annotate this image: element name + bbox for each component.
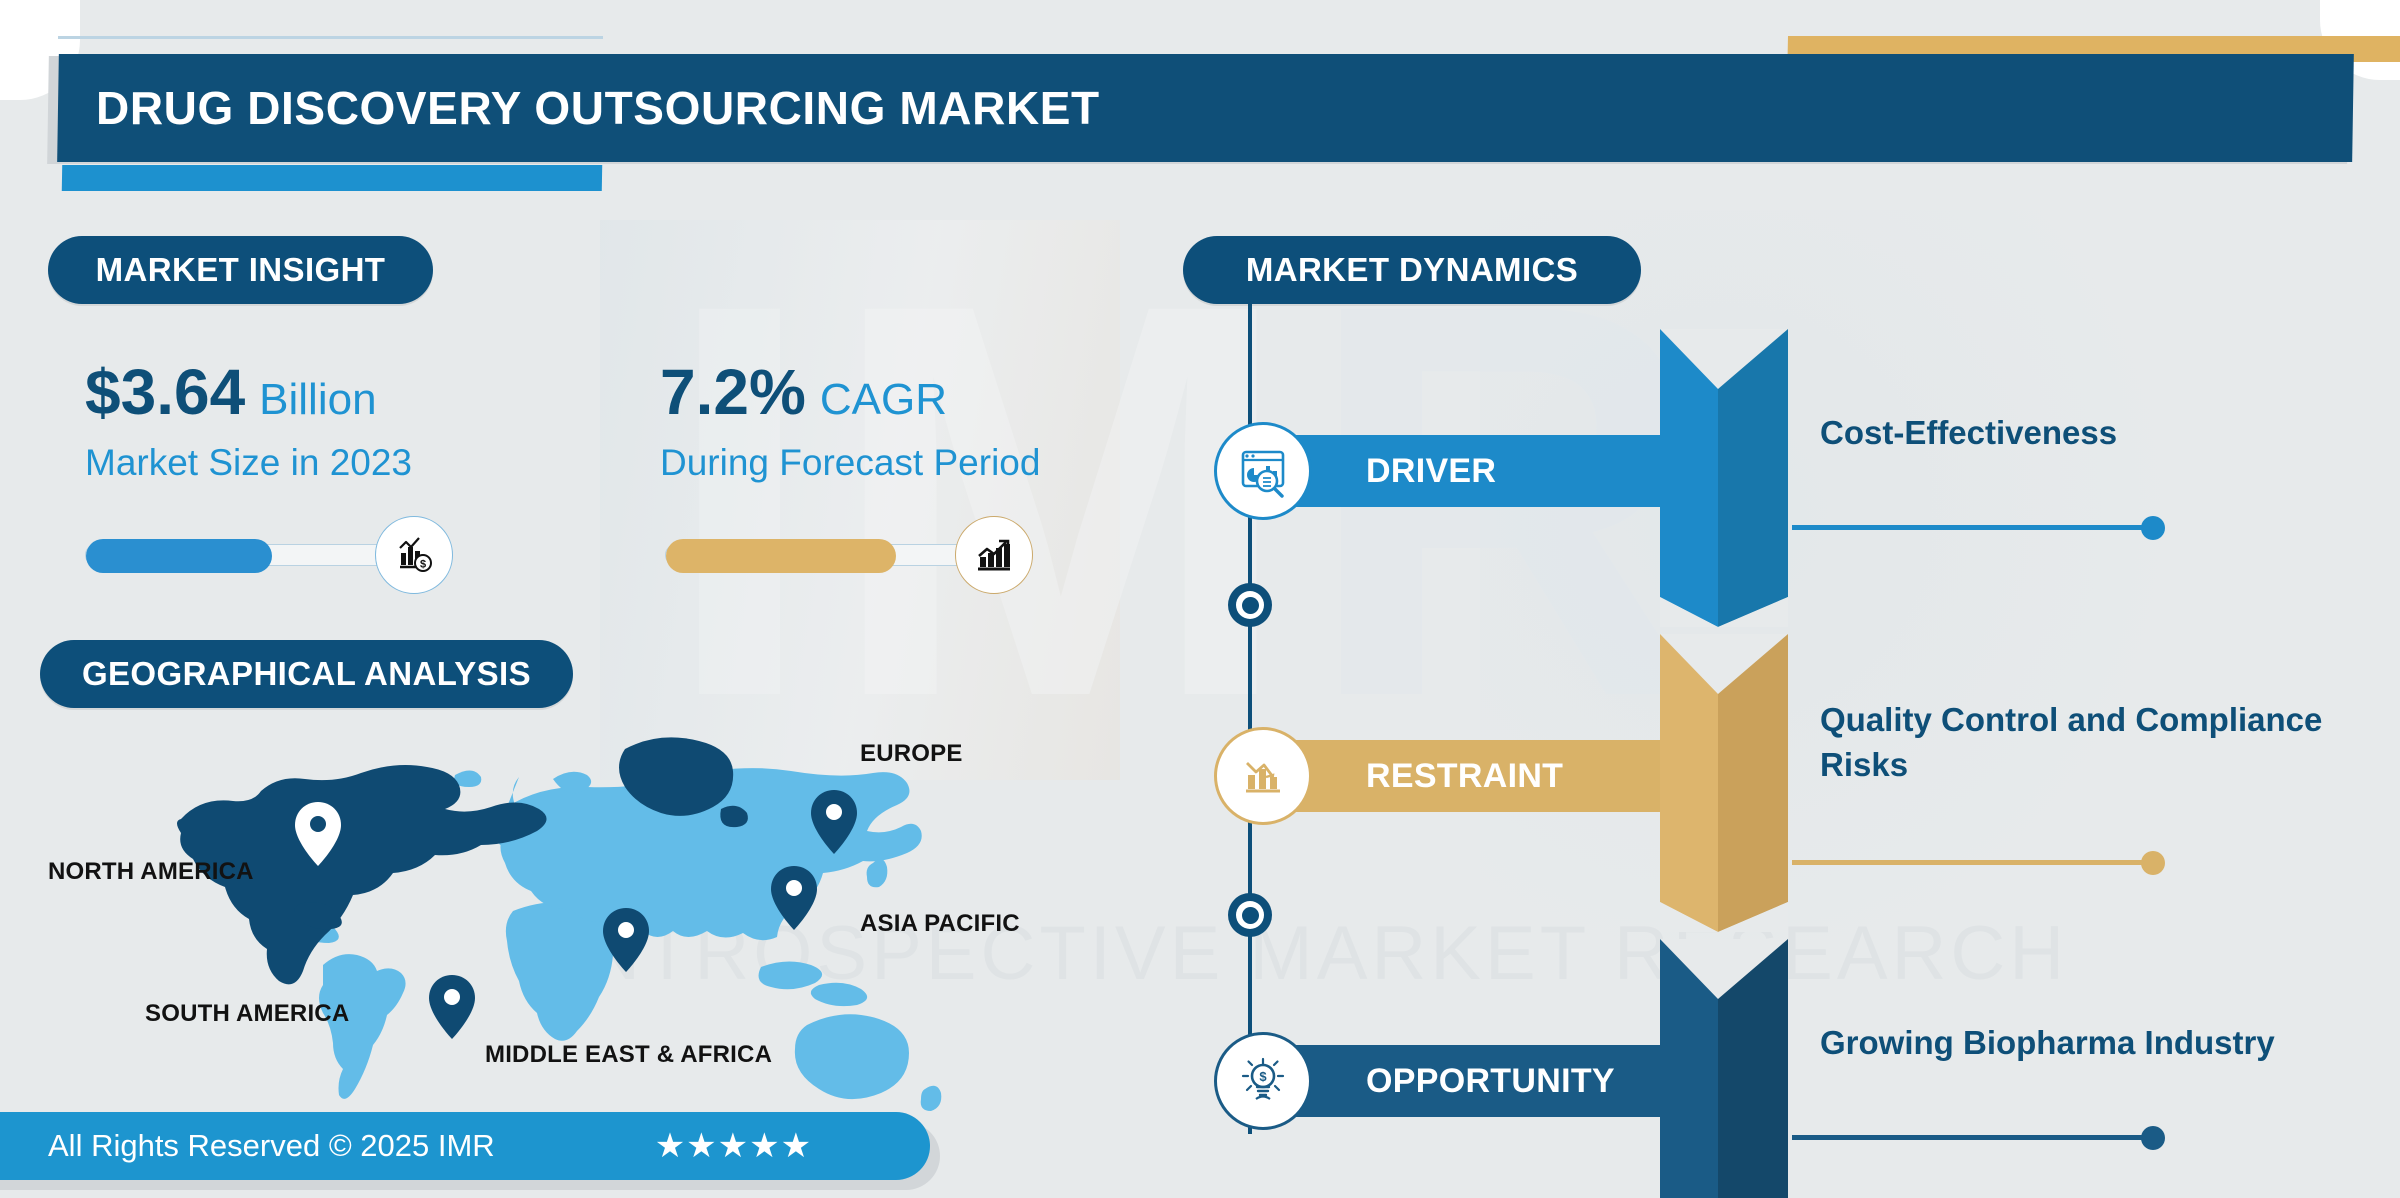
ribbon-banner-driver bbox=[1660, 329, 1788, 627]
svg-text:$: $ bbox=[1259, 1069, 1267, 1084]
market-dynamics-pill-label: MARKET DYNAMICS bbox=[1246, 251, 1578, 289]
stat-cagr: 7.2% CAGR During Forecast Period bbox=[660, 360, 1220, 484]
cagr-value-row: 7.2% CAGR bbox=[660, 360, 1220, 424]
driver-text: Cost-Effectiveness bbox=[1820, 411, 2350, 456]
market-size-unit: Billion bbox=[259, 378, 376, 422]
map-label-north-america: NORTH AMERICA bbox=[48, 858, 254, 886]
footer-rating-stars: ★★★★★ bbox=[655, 1126, 812, 1166]
restraint-label: RESTRAINT bbox=[1366, 757, 1563, 796]
cagr-progress-fill bbox=[666, 539, 896, 573]
cagr-progress-row bbox=[665, 520, 1085, 590]
driver-connector-endpoint-dot bbox=[2141, 516, 2165, 540]
cagr-progress-track bbox=[665, 544, 985, 566]
header-thin-rule bbox=[58, 36, 603, 39]
market-size-progress-track bbox=[85, 544, 405, 566]
declining-bar-chart-icon bbox=[1214, 727, 1312, 825]
driver-bar: DRIVER bbox=[1248, 435, 1708, 507]
header-accent-underbar bbox=[62, 165, 602, 191]
header-bar: DRUG DISCOVERY OUTSOURCING MARKET bbox=[57, 54, 2354, 162]
map-label-europe: EUROPE bbox=[860, 740, 963, 768]
opportunity-connector-endpoint-dot bbox=[2141, 1126, 2165, 1150]
market-size-progress-row: $ bbox=[85, 520, 505, 590]
footer-copyright: All Rights Reserved © 2025 IMR bbox=[48, 1128, 495, 1164]
section-pill-market-insight: MARKET INSIGHT bbox=[48, 236, 433, 304]
section-pill-market-dynamics: MARKET DYNAMICS bbox=[1183, 236, 1641, 304]
page-title: DRUG DISCOVERY OUTSOURCING MARKET bbox=[96, 81, 1100, 135]
restraint-text: Quality Control and Compliance Risks bbox=[1820, 698, 2350, 787]
cagr-caption: During Forecast Period bbox=[660, 442, 1220, 484]
restraint-bar: RESTRAINT bbox=[1248, 740, 1708, 812]
market-insight-pill-label: MARKET INSIGHT bbox=[96, 251, 386, 289]
market-dynamics-row-restraint: RESTRAINT Quality Control and Compliance… bbox=[1180, 690, 2400, 900]
footer-bar: All Rights Reserved © 2025 IMR ★★★★★ bbox=[0, 1112, 930, 1180]
opportunity-label: OPPORTUNITY bbox=[1366, 1062, 1615, 1101]
market-size-progress-fill bbox=[86, 539, 272, 573]
restraint-connector-endpoint-dot bbox=[2141, 851, 2165, 875]
market-size-value-row: $3.64 Billion bbox=[85, 360, 605, 424]
growth-arrow-chart-icon bbox=[955, 516, 1033, 594]
opportunity-text: Growing Biopharma Industry bbox=[1820, 1021, 2350, 1066]
svg-text:$: $ bbox=[420, 559, 426, 571]
market-size-caption: Market Size in 2023 bbox=[85, 442, 605, 484]
cagr-value: 7.2% bbox=[660, 360, 806, 424]
analytics-search-icon bbox=[1214, 422, 1312, 520]
bar-chart-dollar-icon: $ bbox=[375, 516, 453, 594]
opportunity-bar: $ OPPORTUNITY bbox=[1248, 1045, 1708, 1117]
driver-label: DRIVER bbox=[1366, 452, 1496, 491]
driver-connector-line bbox=[1792, 525, 2152, 530]
section-pill-geographical-analysis: GEOGRAPHICAL ANALYSIS bbox=[40, 640, 573, 708]
map-label-asia-pacific: ASIA PACIFIC bbox=[860, 910, 1020, 938]
restraint-connector-line bbox=[1792, 860, 2152, 865]
geographical-analysis-pill-label: GEOGRAPHICAL ANALYSIS bbox=[82, 655, 531, 693]
lightbulb-dollar-icon: $ bbox=[1214, 1032, 1312, 1130]
ribbon-banner-opportunity bbox=[1660, 939, 1788, 1198]
market-dynamics-row-opportunity: $ OPPORTUNITY Growing Biopharma Industry bbox=[1180, 995, 2400, 1198]
opportunity-connector-line bbox=[1792, 1135, 2152, 1140]
map-label-middle-east-africa: MIDDLE EAST & AFRICA bbox=[485, 1041, 772, 1069]
ribbon-banner-restraint bbox=[1660, 634, 1788, 932]
stat-market-size: $3.64 Billion Market Size in 2023 bbox=[85, 360, 605, 484]
market-dynamics-row-driver: DRIVER Cost-Effectiveness bbox=[1180, 385, 2400, 595]
map-label-south-america: SOUTH AMERICA bbox=[145, 1000, 349, 1028]
background-panel-left bbox=[600, 220, 1120, 780]
market-size-value: $3.64 bbox=[85, 360, 245, 424]
infographic-canvas: I M R INTROSPECTIVE MARKET RESEARCH DRUG… bbox=[0, 0, 2400, 1198]
cagr-unit: CAGR bbox=[820, 378, 947, 422]
